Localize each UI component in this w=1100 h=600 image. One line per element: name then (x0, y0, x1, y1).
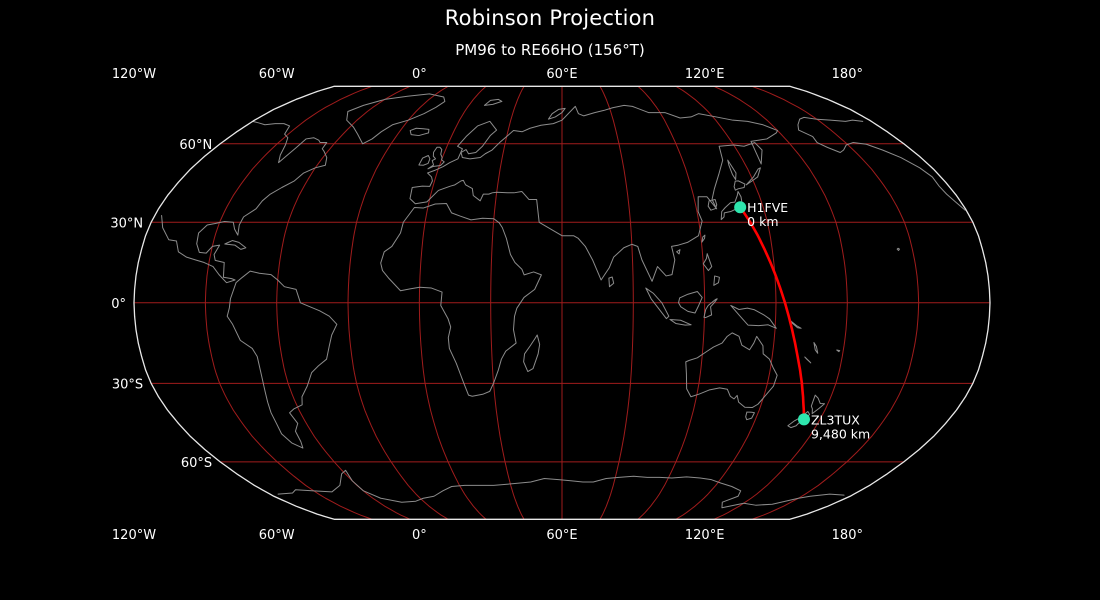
coastline-segment (381, 203, 542, 396)
marker-dot-origin[interactable] (734, 201, 746, 213)
coastline-segment (677, 250, 680, 254)
coastline-layer (162, 94, 965, 508)
coastline-segment (646, 288, 669, 319)
coastline-segment (897, 248, 899, 250)
marker-distance-destination: 9,480 km (811, 426, 870, 441)
coastline-segment (704, 299, 717, 318)
coastline-segment (419, 156, 430, 166)
coastline-segment (225, 241, 246, 250)
coastline-segment (703, 254, 711, 271)
coastline-segment (609, 277, 614, 287)
coastline-segment (548, 108, 565, 119)
coastline-segment (410, 128, 429, 135)
coastline-segment (731, 305, 777, 328)
marker-dot-destination[interactable] (798, 413, 810, 425)
lon-tick-bottom-60°E: 60°E (546, 528, 577, 543)
coastline-segment (278, 470, 844, 507)
coastline-segment (410, 105, 778, 281)
lon-tick-bottom-180°: 180° (832, 528, 863, 543)
lat-tick-30°S: 30°S (112, 377, 143, 392)
coastline-segment (670, 319, 691, 325)
coastline-segment (484, 99, 501, 105)
coastline-segment (714, 276, 720, 285)
axis-tick-labels: 0°0°60°E60°E120°E120°E180°180°120°W120°W… (110, 67, 863, 543)
coastline-segment (811, 395, 824, 413)
coastline-segment (728, 160, 736, 179)
coastline-segment (524, 335, 540, 372)
marker-distance-origin: 0 km (747, 214, 778, 229)
marker-callsign-destination: ZL3TUX (811, 412, 860, 427)
lon-tick-top-120°E: 120°E (685, 67, 725, 82)
lat-tick-60°N: 60°N (179, 138, 212, 153)
lon-tick-top-180°: 180° (832, 67, 863, 82)
lon-tick-top-120°W: 120°W (112, 67, 156, 82)
map-figure: Robinson Projection PM96 to RE66HO (156°… (0, 0, 1100, 600)
marker-layer[interactable]: H1FVE0 kmZL3TUX9,480 km (734, 200, 870, 441)
coastline-segment (837, 350, 840, 352)
map-marker-origin[interactable]: H1FVE0 km (734, 200, 788, 229)
robinson-map[interactable]: H1FVE0 kmZL3TUX9,480 km 0°0°60°E60°E120°… (0, 0, 1100, 600)
lon-tick-bottom-120°W: 120°W (112, 528, 156, 543)
graticule-layer (134, 86, 990, 519)
lat-tick-30°N: 30°N (110, 216, 143, 231)
coastline-segment (814, 343, 818, 354)
lat-tick-0°: 0° (111, 297, 126, 312)
coastline-segment (746, 412, 755, 420)
lon-tick-top-60°E: 60°E (546, 67, 577, 82)
coastline-segment (679, 292, 703, 313)
lon-tick-bottom-60°W: 60°W (259, 528, 295, 543)
lon-tick-top-0°: 0° (412, 67, 427, 82)
lon-tick-top-60°W: 60°W (259, 67, 295, 82)
marker-callsign-origin: H1FVE (747, 200, 788, 215)
lon-tick-bottom-120°E: 120°E (685, 528, 725, 543)
coastline-segment (702, 235, 705, 242)
lon-tick-bottom-0°: 0° (412, 528, 427, 543)
coastline-segment (428, 147, 444, 169)
coastline-segment (734, 181, 745, 190)
coastline-segment (805, 357, 811, 363)
lat-tick-60°S: 60°S (181, 456, 212, 471)
